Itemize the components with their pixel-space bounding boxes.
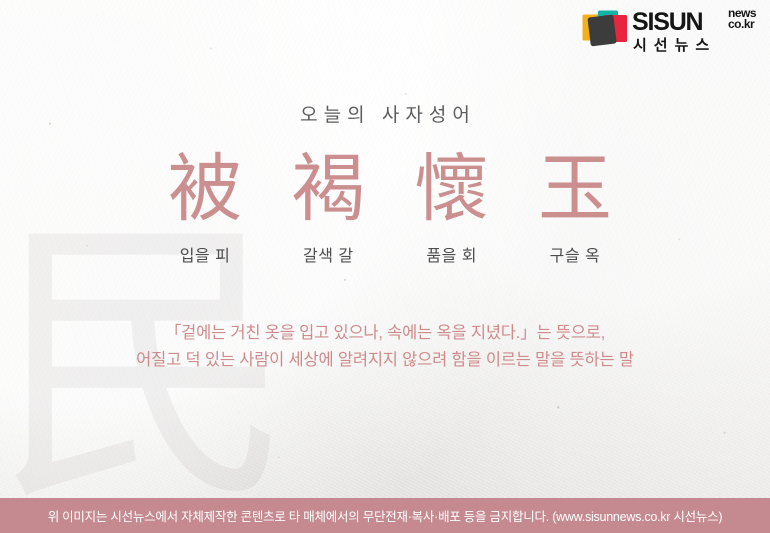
hanja-cell: 懷 품을 회 xyxy=(397,146,507,266)
idiom-meaning: 「겉에는 거친 옷을 입고 있으나, 속에는 옥을 지녔다.」는 뜻으로, 어질… xyxy=(0,320,770,374)
hanja-row: 被 입을 피 褐 갈색 갈 懷 품을 회 玉 구슬 옥 xyxy=(150,146,630,266)
copyright-notice: 위 이미지는 시선뉴스에서 자체제작한 콘텐츠로 타 매체에서의 무단전재·복사… xyxy=(48,506,723,525)
logo-wordmark-domain: co.kr xyxy=(728,19,756,30)
paper-texture-base xyxy=(0,0,770,533)
hanja-cell: 玉 구슬 옥 xyxy=(520,146,630,266)
logo-wordmark-main: SISUN xyxy=(632,8,702,37)
logo-wordmark: SISUN news co.kr 시선뉴스 xyxy=(632,8,756,54)
hanja-reading: 구슬 옥 xyxy=(520,242,630,266)
logo-wordmark-korean: 시선뉴스 xyxy=(633,34,716,55)
hanja-reading: 갈색 갈 xyxy=(273,242,383,266)
hanja-reading: 품을 회 xyxy=(397,242,507,266)
logo-mark-icon xyxy=(582,10,628,48)
copyright-footer: 위 이미지는 시선뉴스에서 자체제작한 콘텐츠로 타 매체에서의 무단전재·복사… xyxy=(0,498,770,533)
hanja-character: 懷 xyxy=(397,146,507,232)
hanja-cell: 褐 갈색 갈 xyxy=(273,146,383,266)
meaning-line-2: 어질고 덕 있는 사람이 세상에 알려지지 않으려 함을 이르는 말을 뜻하는 … xyxy=(0,347,770,374)
hanja-cell: 被 입을 피 xyxy=(150,146,260,266)
idiom-card: 民 SISUN news co.kr 시선뉴스 오늘의 사자성어 被 입을 피 … xyxy=(0,0,770,533)
page-subtitle: 오늘의 사자성어 xyxy=(0,100,770,127)
hanja-character: 玉 xyxy=(520,146,630,232)
logo-wordmark-stack: news co.kr xyxy=(728,8,756,30)
paper-texture-specks xyxy=(0,0,770,533)
hanja-character: 被 xyxy=(150,146,260,232)
sisun-news-logo[interactable]: SISUN news co.kr 시선뉴스 xyxy=(580,6,756,56)
meaning-line-1: 「겉에는 거친 옷을 입고 있으나, 속에는 옥을 지녔다.」는 뜻으로, xyxy=(0,320,770,347)
hanja-reading: 입을 피 xyxy=(150,242,260,266)
paper-texture-fibers xyxy=(0,0,770,533)
hanja-character: 褐 xyxy=(273,146,383,232)
